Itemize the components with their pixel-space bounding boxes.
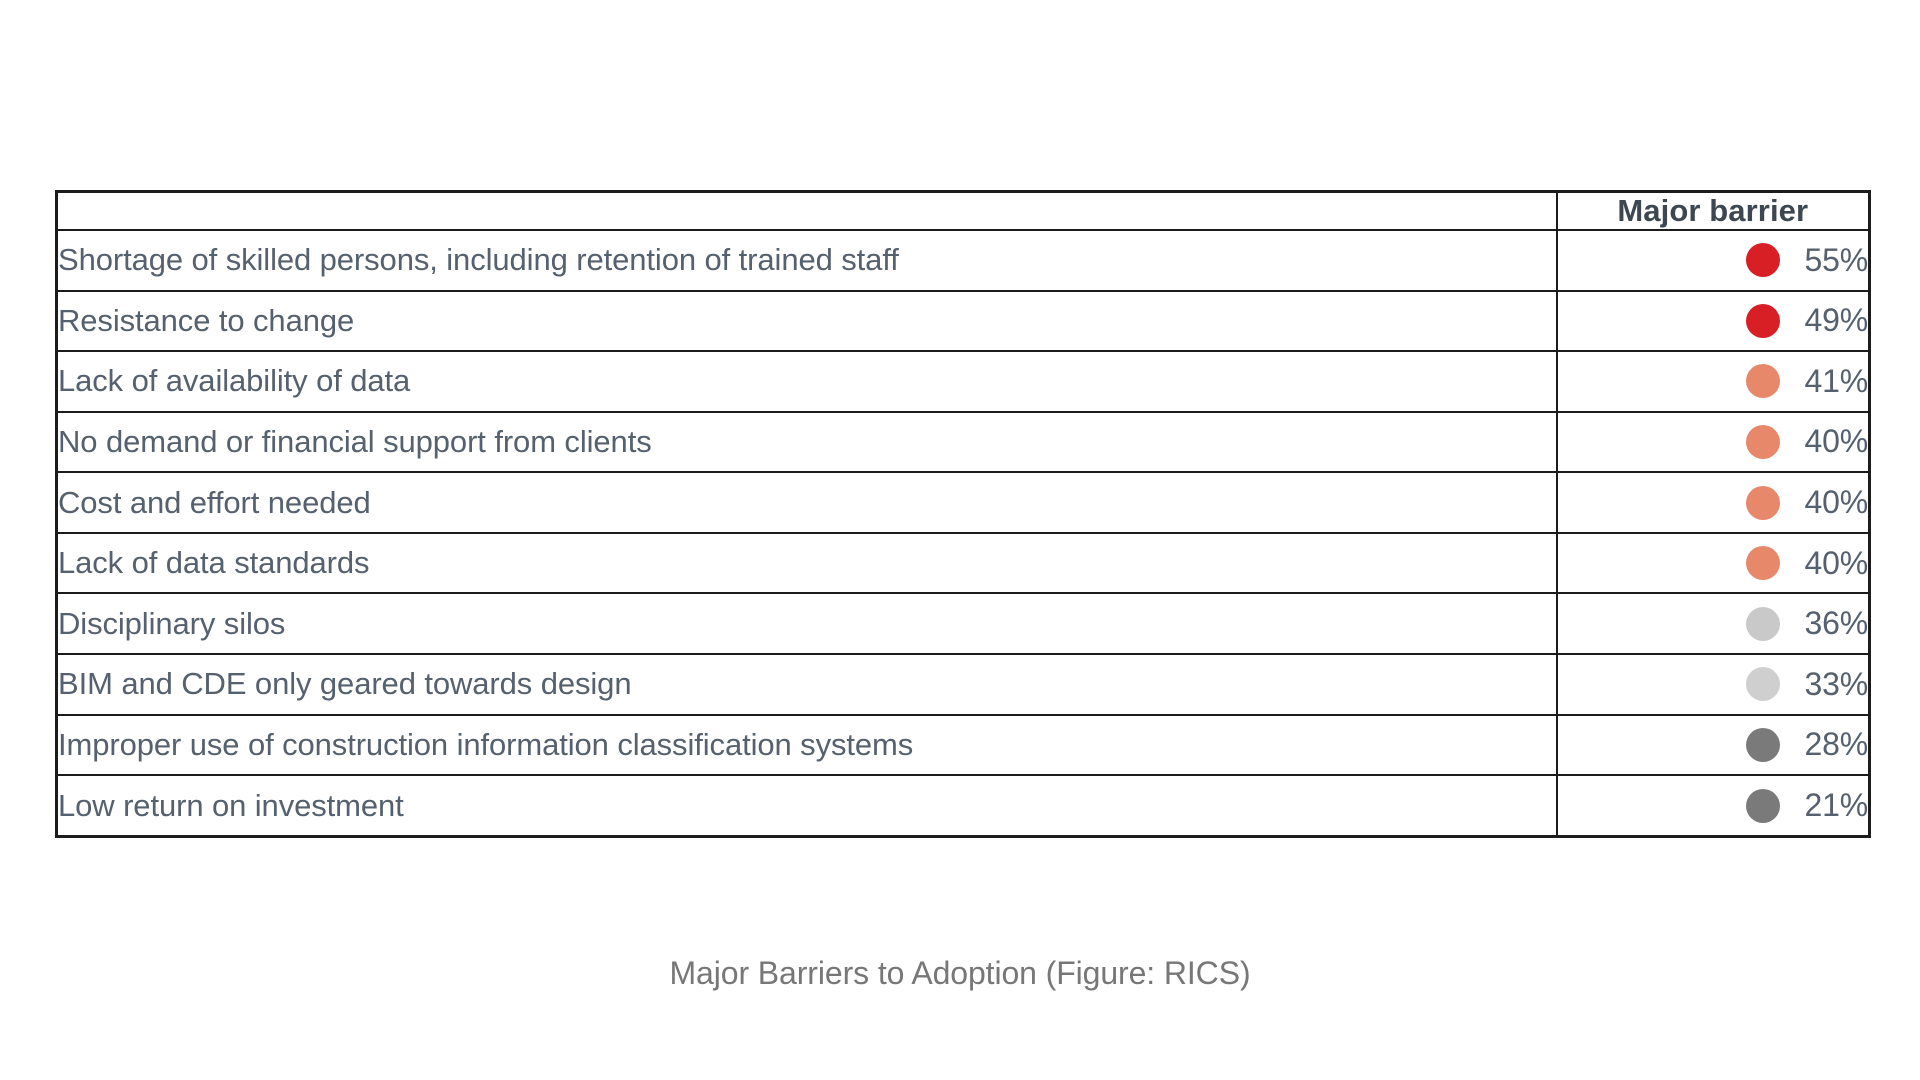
table-row: BIM and CDE only geared towards design33… [57,654,1870,715]
barrier-label: BIM and CDE only geared towards design [57,654,1557,715]
table-header-row: Major barrier [57,192,1870,231]
severity-dot-icon [1746,243,1780,277]
barrier-label: Cost and effort needed [57,472,1557,533]
value-inner: 40% [1558,413,1869,472]
severity-dot-icon [1746,546,1780,580]
table-header: Major barrier [57,192,1870,231]
barrier-label: Resistance to change [57,291,1557,352]
severity-dot-icon [1746,486,1780,520]
figure-caption: Major Barriers to Adoption (Figure: RICS… [0,955,1920,992]
barrier-label: Lack of availability of data [57,351,1557,412]
major-barrier-cell: 36% [1557,593,1870,654]
value-inner: 49% [1558,292,1869,351]
barrier-label: Low return on investment [57,775,1557,836]
severity-dot-icon [1746,304,1780,338]
value-inner: 40% [1558,534,1869,593]
column-header-major-barrier: Major barrier [1557,192,1870,231]
major-barrier-cell: 55% [1557,230,1870,291]
barrier-label: No demand or financial support from clie… [57,412,1557,473]
percentage-value: 55% [1794,242,1868,279]
value-inner: 55% [1558,231,1869,290]
severity-dot-icon [1746,607,1780,641]
percentage-value: 49% [1794,302,1868,339]
barrier-label: Disciplinary silos [57,593,1557,654]
table-row: Resistance to change49% [57,291,1870,352]
major-barrier-cell: 33% [1557,654,1870,715]
severity-dot-icon [1746,667,1780,701]
percentage-value: 41% [1794,363,1868,400]
value-inner: 21% [1558,776,1869,835]
major-barrier-cell: 40% [1557,412,1870,473]
major-barrier-cell: 40% [1557,472,1870,533]
table-row: Low return on investment21% [57,775,1870,836]
table-row: Improper use of construction information… [57,715,1870,776]
major-barrier-cell: 21% [1557,775,1870,836]
percentage-value: 40% [1794,484,1868,521]
severity-dot-icon [1746,728,1780,762]
percentage-value: 33% [1794,666,1868,703]
percentage-value: 28% [1794,726,1868,763]
value-inner: 28% [1558,716,1869,775]
table-row: Lack of availability of data41% [57,351,1870,412]
value-inner: 41% [1558,352,1869,411]
percentage-value: 21% [1794,787,1868,824]
percentage-value: 40% [1794,423,1868,460]
table-row: Cost and effort needed40% [57,472,1870,533]
major-barrier-cell: 40% [1557,533,1870,594]
table-row: Shortage of skilled persons, including r… [57,230,1870,291]
table-body: Shortage of skilled persons, including r… [57,230,1870,837]
percentage-value: 40% [1794,545,1868,582]
severity-dot-icon [1746,364,1780,398]
severity-dot-icon [1746,425,1780,459]
major-barrier-cell: 41% [1557,351,1870,412]
value-inner: 33% [1558,655,1869,714]
value-inner: 40% [1558,473,1869,532]
table-row: No demand or financial support from clie… [57,412,1870,473]
table-row: Disciplinary silos36% [57,593,1870,654]
barriers-table: Major barrier Shortage of skilled person… [55,190,1871,838]
barriers-table-container: Major barrier Shortage of skilled person… [55,190,1868,838]
major-barrier-cell: 49% [1557,291,1870,352]
major-barrier-cell: 28% [1557,715,1870,776]
figure-root: Major barrier Shortage of skilled person… [0,0,1920,1080]
barrier-label: Improper use of construction information… [57,715,1557,776]
table-row: Lack of data standards40% [57,533,1870,594]
barrier-label: Lack of data standards [57,533,1557,594]
value-inner: 36% [1558,594,1869,653]
column-header-barrier [57,192,1557,231]
barrier-label: Shortage of skilled persons, including r… [57,230,1557,291]
severity-dot-icon [1746,789,1780,823]
percentage-value: 36% [1794,605,1868,642]
